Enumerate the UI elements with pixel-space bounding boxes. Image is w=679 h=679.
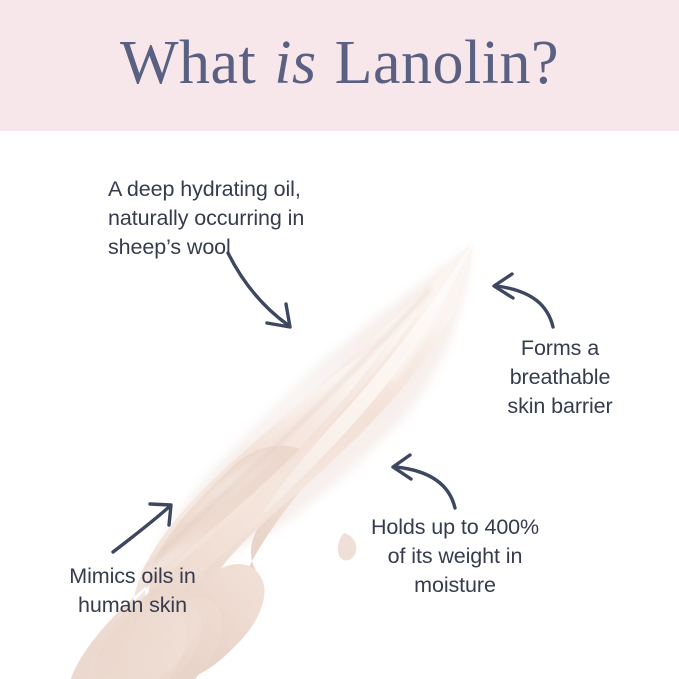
page-title: What is Lanolin? bbox=[0, 0, 679, 131]
page-title-word-is: is bbox=[272, 32, 318, 94]
page-title-word-lanolin: Lanolin? bbox=[335, 32, 559, 94]
callout-line: A deep hydrating oil, bbox=[108, 175, 378, 204]
lanolin-infographic: What is Lanolin? bbox=[0, 0, 679, 679]
callout-line: human skin bbox=[35, 591, 230, 620]
page-title-word-what: What bbox=[120, 32, 256, 94]
callout-line: Holds up to 400% bbox=[335, 513, 575, 542]
callout-line: moisture bbox=[335, 571, 575, 600]
callout-line: breathable bbox=[480, 363, 640, 392]
callout-mimics-oils-in-human-skin: Mimics oils in human skin bbox=[35, 562, 230, 620]
callout-line: skin barrier bbox=[480, 392, 640, 421]
callout-deep-hydrating-oil: A deep hydrating oil, naturally occurrin… bbox=[108, 175, 378, 262]
callout-line: sheep’s wool bbox=[108, 233, 378, 262]
arrow-to-hydrating-oil bbox=[228, 253, 290, 327]
callout-line: of its weight in bbox=[335, 542, 575, 571]
callout-holds-400-percent-moisture: Holds up to 400% of its weight in moistu… bbox=[335, 513, 575, 600]
arrow-to-skin-barrier bbox=[494, 274, 553, 327]
callout-line: naturally occurring in bbox=[108, 204, 378, 233]
callout-line: Mimics oils in bbox=[35, 562, 230, 591]
arrow-to-moisture bbox=[393, 455, 455, 508]
callout-breathable-skin-barrier: Forms a breathable skin barrier bbox=[480, 334, 640, 421]
callout-line: Forms a bbox=[480, 334, 640, 363]
